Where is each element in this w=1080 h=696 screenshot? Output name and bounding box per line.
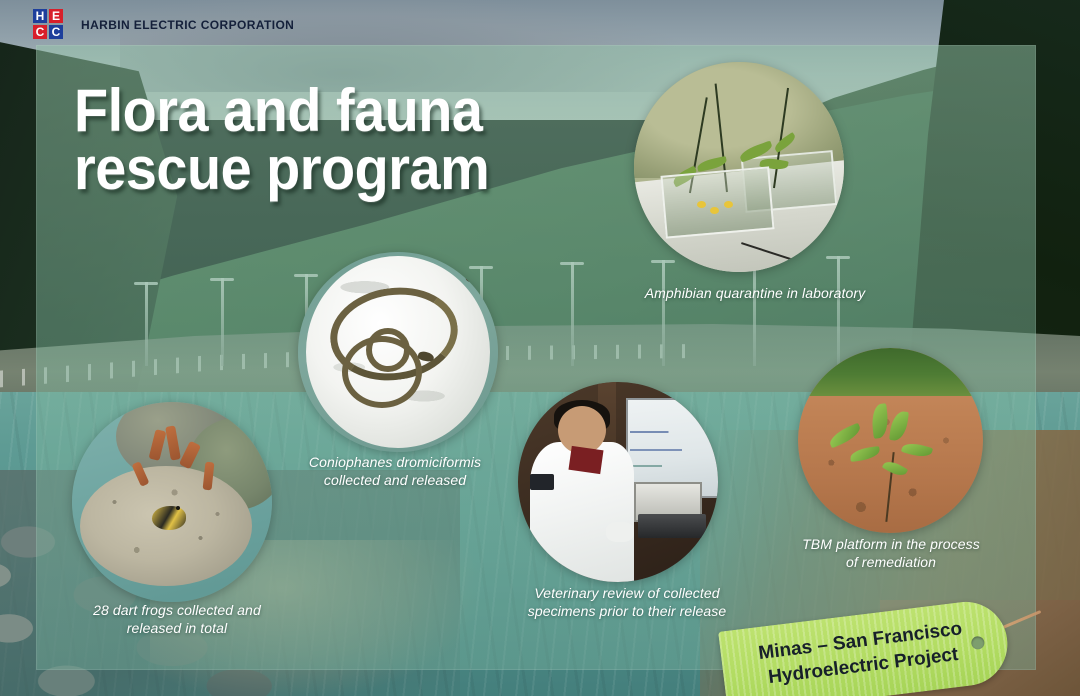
photo-snake-released [298, 252, 498, 452]
caption-amphibian-quarantine: Amphibian quarantine in laboratory [610, 285, 900, 303]
logo-cell-3: C [33, 25, 47, 39]
caption-tbm-remediation: TBM platform in the process of remediati… [762, 536, 1020, 572]
page-title: Flora and fauna rescue program [74, 82, 558, 197]
caption-veterinary-review: Veterinary review of collected specimens… [492, 585, 762, 621]
photo-veterinary-review [518, 382, 718, 582]
presentation-slide: H E C C HARBIN ELECTRIC CORPORATION Flor… [0, 0, 1080, 696]
company-name: HARBIN ELECTRIC CORPORATION [81, 18, 294, 32]
caption-dart-frogs: 28 dart frogs collected and released in … [52, 602, 302, 638]
logo-cell-4: C [49, 25, 63, 39]
slide-header: H E C C HARBIN ELECTRIC CORPORATION [0, 0, 1080, 46]
photo-dart-frogs [72, 402, 272, 602]
logo-cell-1: H [33, 9, 47, 23]
title-line-1: Flora and fauna [74, 82, 558, 140]
photo-tbm-remediation [798, 348, 983, 533]
hecc-logo: H E C C [33, 9, 63, 39]
caption-snake-released: Coniophanes dromiciformis collected and … [280, 454, 510, 490]
title-line-2: rescue program [74, 140, 558, 198]
photo-amphibian-quarantine [634, 62, 844, 272]
logo-cell-2: E [49, 9, 63, 23]
